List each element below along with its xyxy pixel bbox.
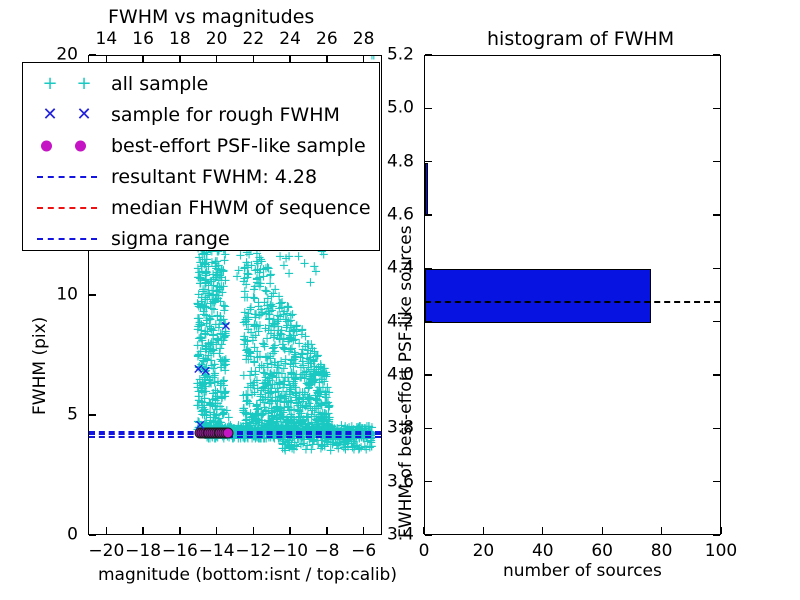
tick-mark xyxy=(713,268,720,269)
histogram-bar xyxy=(425,163,428,216)
dash-dot-line-swatch xyxy=(37,238,97,240)
tick-mark xyxy=(542,527,543,534)
data-point-plus: + xyxy=(324,401,335,414)
tick-mark xyxy=(89,534,96,535)
data-point-plus: + xyxy=(247,380,258,393)
rough-fwhm-cross: ✕ xyxy=(194,419,206,433)
data-point-plus: + xyxy=(312,349,323,362)
data-point-plus: + xyxy=(300,444,311,457)
tick-mark xyxy=(89,414,96,415)
dashed-line-swatch xyxy=(37,176,97,178)
data-point-plus: + xyxy=(205,398,216,411)
tick-mark xyxy=(425,321,432,322)
tick-label: 0 xyxy=(67,527,78,544)
tick-mark xyxy=(713,374,720,375)
tick-mark xyxy=(713,161,720,162)
tick-mark xyxy=(425,161,432,162)
tick-mark xyxy=(425,374,432,375)
data-point-plus: + xyxy=(214,347,225,360)
tick-mark xyxy=(253,527,254,534)
data-point-plus: + xyxy=(318,362,329,375)
tick-label: 22 xyxy=(243,31,265,48)
tick-mark xyxy=(720,527,721,534)
psf-like-point xyxy=(222,428,233,439)
legend-item-label: all sample xyxy=(111,73,208,95)
filled-circle-marker xyxy=(41,140,52,151)
tick-label: 40 xyxy=(532,543,554,560)
legend-item[interactable]: ++all sample xyxy=(23,68,379,99)
data-point-plus: + xyxy=(241,353,252,366)
dashed-line-swatch xyxy=(37,207,97,209)
cross-marker: ✕ xyxy=(41,106,59,124)
resultant-fwhm-line xyxy=(89,433,381,435)
tick-mark xyxy=(713,214,720,215)
right-panel-xlabel: number of sources xyxy=(503,563,662,580)
tick-mark xyxy=(713,321,720,322)
tick-label: 80 xyxy=(651,543,673,560)
tick-label: 60 xyxy=(591,543,613,560)
legend-item[interactable]: median FHWM of sequence xyxy=(23,192,379,223)
data-point-plus: + xyxy=(220,390,231,403)
legend-item[interactable]: best-effort PSF-like sample xyxy=(23,130,379,161)
data-point-plus: + xyxy=(284,268,295,281)
tick-label: 4.8 xyxy=(387,153,414,170)
tick-label: 26 xyxy=(316,31,338,48)
tick-mark xyxy=(363,527,364,534)
histogram-median-line xyxy=(425,301,720,303)
data-point-plus: + xyxy=(299,257,310,270)
right-panel-axes xyxy=(424,55,721,535)
tick-mark xyxy=(89,54,96,55)
plus-marker: + xyxy=(75,75,93,93)
tick-mark xyxy=(425,428,432,429)
tick-mark xyxy=(425,534,432,535)
data-point-plus: + xyxy=(258,270,269,283)
tick-mark xyxy=(713,481,720,482)
tick-label: −16 xyxy=(162,543,198,560)
rough-fwhm-cross: ✕ xyxy=(200,365,212,379)
data-point-plus: + xyxy=(213,260,224,273)
data-point-plus: + xyxy=(290,387,301,400)
data-point-plus: + xyxy=(280,444,291,457)
tick-label: 100 xyxy=(705,543,737,560)
data-point-plus: + xyxy=(311,402,322,415)
data-point-plus: + xyxy=(267,342,278,355)
legend-item[interactable]: sigma range xyxy=(23,223,379,254)
tick-mark xyxy=(425,214,432,215)
tick-label: −14 xyxy=(199,543,235,560)
legend-item-label: median FHWM of sequence xyxy=(111,197,371,219)
tick-label: 16 xyxy=(132,31,154,48)
data-point-plus: + xyxy=(264,314,275,327)
tick-label: 28 xyxy=(353,31,375,48)
data-point-plus: + xyxy=(233,264,244,277)
plus-marker: + xyxy=(41,75,59,93)
legend-item-label: sample for rough FWHM xyxy=(111,104,340,126)
tick-label: 18 xyxy=(169,31,191,48)
tick-label: 4.6 xyxy=(387,207,414,224)
data-point-plus: + xyxy=(203,350,214,363)
data-point-plus: + xyxy=(256,256,267,269)
data-point-plus: + xyxy=(297,324,308,337)
left-panel-xlabel: magnitude (bottom:isnt / top:calib) xyxy=(98,567,397,584)
legend-box: ++all sample✕✕sample for rough FWHMbest-… xyxy=(22,62,380,251)
legend-item[interactable]: ✕✕sample for rough FWHM xyxy=(23,99,379,130)
data-point-plus: + xyxy=(218,376,229,389)
data-point-plus: + xyxy=(251,400,262,413)
data-point-plus: + xyxy=(207,290,218,303)
legend-item-label: resultant FWHM: 4.28 xyxy=(111,166,317,188)
data-point-plus: + xyxy=(205,275,216,288)
tick-mark xyxy=(425,54,432,55)
tick-label: −18 xyxy=(125,543,161,560)
tick-mark xyxy=(216,527,217,534)
data-point-plus: + xyxy=(216,362,227,375)
tick-label: 24 xyxy=(279,31,301,48)
data-point-plus: + xyxy=(262,299,273,312)
tick-mark xyxy=(602,527,603,534)
filled-circle-marker xyxy=(75,140,86,151)
legend-item-label: sigma range xyxy=(111,228,230,250)
tick-mark xyxy=(106,527,107,534)
tick-label: 20 xyxy=(206,31,228,48)
sigma-range-line-lower xyxy=(89,436,381,438)
tick-mark xyxy=(326,527,327,534)
data-point-plus: + xyxy=(295,372,306,385)
data-point-plus: + xyxy=(309,260,320,273)
tick-mark xyxy=(713,108,720,109)
tick-label: 20 xyxy=(473,543,495,560)
legend-item[interactable]: resultant FWHM: 4.28 xyxy=(23,161,379,192)
tick-label: 5 xyxy=(67,407,78,424)
legend-item-label: best-effort PSF-like sample xyxy=(111,135,366,157)
tick-label: 0 xyxy=(419,543,430,560)
tick-mark xyxy=(661,527,662,534)
tick-mark xyxy=(423,527,424,534)
tick-mark xyxy=(289,527,290,534)
data-point-plus: + xyxy=(276,324,287,337)
data-point-plus: + xyxy=(265,328,276,341)
tick-mark xyxy=(713,428,720,429)
data-point-plus: + xyxy=(279,306,290,319)
tick-mark xyxy=(425,268,432,269)
tick-label: 20 xyxy=(56,47,78,64)
tick-label: −8 xyxy=(314,543,339,560)
data-point-plus: + xyxy=(297,355,308,368)
data-point-plus: + xyxy=(279,344,290,357)
tick-label: −20 xyxy=(88,543,124,560)
right-panel-title: histogram of FWHM xyxy=(487,30,674,49)
figure-canvas: FWHM vs magnitudes +++++++++++++++++++++… xyxy=(0,0,800,600)
tick-mark xyxy=(179,527,180,534)
histogram-bar xyxy=(425,269,651,322)
tick-mark xyxy=(142,527,143,534)
tick-label: −6 xyxy=(351,543,376,560)
tick-mark xyxy=(425,108,432,109)
right-panel-ylabel: FWHM of best-effort PSF-like sources xyxy=(398,225,415,538)
data-point-plus: + xyxy=(312,389,323,402)
tick-label: −10 xyxy=(272,543,308,560)
left-panel-ylabel: FWHM (pix) xyxy=(32,317,49,415)
tick-mark xyxy=(425,481,432,482)
tick-label: 10 xyxy=(56,287,78,304)
data-point-plus: + xyxy=(208,304,219,317)
rough-fwhm-cross: ✕ xyxy=(220,320,232,334)
tick-label: 5.0 xyxy=(387,100,414,117)
tick-mark xyxy=(483,527,484,534)
tick-label: 5.2 xyxy=(387,47,414,64)
data-point-plus: + xyxy=(271,371,282,384)
tick-mark xyxy=(713,534,720,535)
tick-label: −12 xyxy=(235,543,271,560)
data-point-plus: + xyxy=(269,357,280,370)
left-panel-title: FWHM vs magnitudes xyxy=(108,8,314,27)
cross-marker: ✕ xyxy=(75,106,93,124)
tick-mark xyxy=(713,54,720,55)
data-point-plus: + xyxy=(241,318,252,331)
data-point-plus: + xyxy=(203,261,214,274)
data-point-plus: + xyxy=(260,285,271,298)
tick-mark xyxy=(89,294,96,295)
tick-label: 14 xyxy=(96,31,118,48)
histogram-data-layer xyxy=(425,56,720,534)
